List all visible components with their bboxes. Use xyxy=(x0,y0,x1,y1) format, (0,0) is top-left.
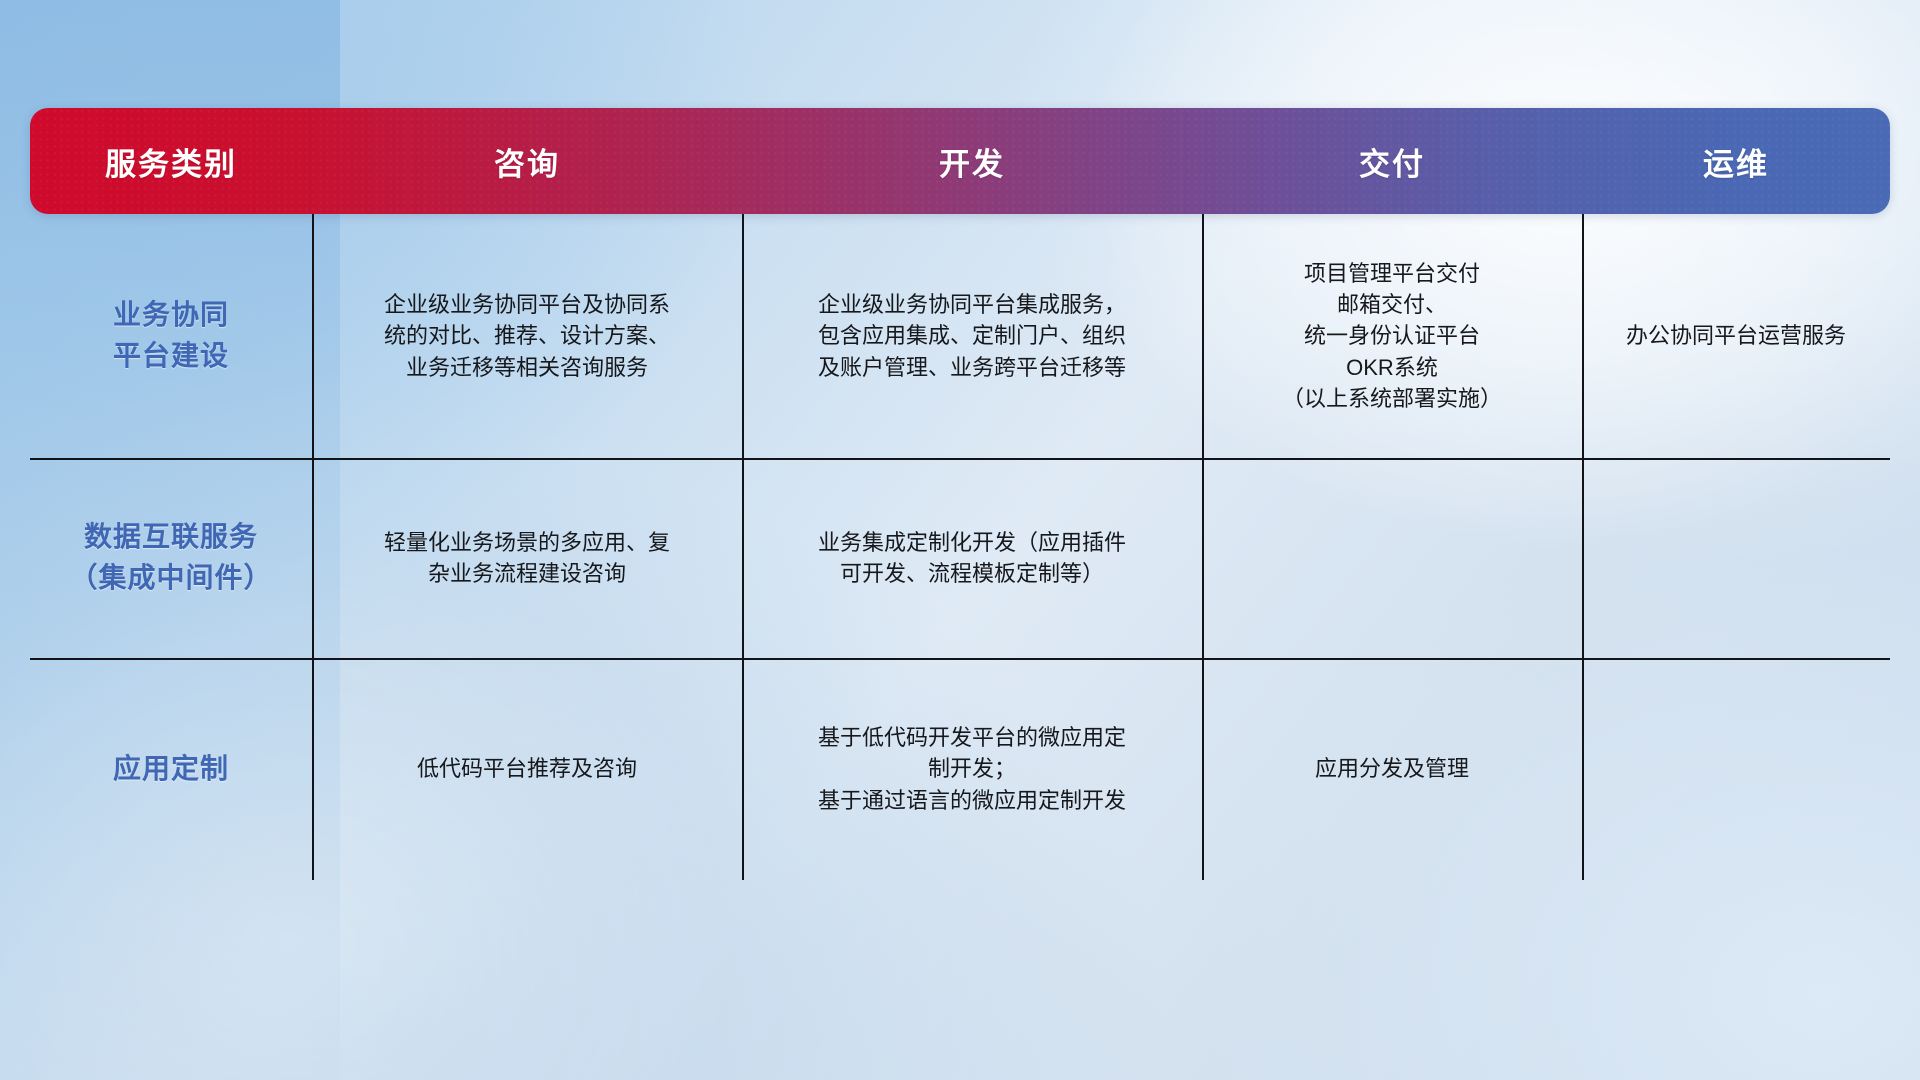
table-row: 数据互联服务 （集成中间件） 轻量化业务场景的多应用、复 杂业务流程建设咨询 业… xyxy=(30,458,1890,658)
cell-consulting: 轻量化业务场景的多应用、复 杂业务流程建设咨询 xyxy=(312,458,742,658)
cell-development: 企业级业务协同平台集成服务， 包含应用集成、定制门户、组织 及账户管理、业务跨平… xyxy=(742,214,1202,458)
cell-consulting: 企业级业务协同平台及协同系 统的对比、推荐、设计方案、 业务迁移等相关咨询服务 xyxy=(312,214,742,458)
header-label-operations: 运维 xyxy=(1703,139,1769,184)
table-body: 业务协同 平台建设 企业级业务协同平台及协同系 统的对比、推荐、设计方案、 业务… xyxy=(30,214,1890,880)
cell-operations: 办公协同平台运营服务 xyxy=(1582,214,1890,458)
category-label: 数据互联服务 （集成中间件） xyxy=(69,517,272,598)
header-cell-operations: 运维 xyxy=(1582,108,1890,214)
header-label-development: 开发 xyxy=(939,139,1005,184)
header-cell-development: 开发 xyxy=(742,108,1202,214)
cell-consulting: 低代码平台推荐及咨询 xyxy=(312,658,742,880)
cell-delivery xyxy=(1202,458,1582,658)
table-row: 应用定制 低代码平台推荐及咨询 基于低代码开发平台的微应用定 制开发； 基于通过… xyxy=(30,658,1890,880)
category-label: 业务协同 平台建设 xyxy=(113,295,229,376)
category-label: 应用定制 xyxy=(113,749,229,790)
cell-category: 数据互联服务 （集成中间件） xyxy=(30,458,312,658)
cell-delivery: 项目管理平台交付 邮箱交付、 统一身份认证平台 OKR系统 （以上系统部署实施） xyxy=(1202,214,1582,458)
cell-category: 应用定制 xyxy=(30,658,312,880)
cell-development: 业务集成定制化开发（应用插件 可开发、流程模板定制等） xyxy=(742,458,1202,658)
cell-category: 业务协同 平台建设 xyxy=(30,214,312,458)
header-label-delivery: 交付 xyxy=(1359,139,1425,184)
cell-delivery: 应用分发及管理 xyxy=(1202,658,1582,880)
header-label-consulting: 咨询 xyxy=(494,139,560,184)
header-label-service-category: 服务类别 xyxy=(105,139,237,184)
header-cell-consulting: 咨询 xyxy=(312,108,742,214)
cell-development: 基于低代码开发平台的微应用定 制开发； 基于通过语言的微应用定制开发 xyxy=(742,658,1202,880)
cell-operations xyxy=(1582,658,1890,880)
header-cell-delivery: 交付 xyxy=(1202,108,1582,214)
service-matrix-table: 服务类别 咨询 开发 交付 运维 业务协同 平台建设 企业级业务协同平台及协同系… xyxy=(30,108,1890,774)
table-header-row: 服务类别 咨询 开发 交付 运维 xyxy=(30,108,1890,214)
header-cell-service-category: 服务类别 xyxy=(30,108,312,214)
table-row: 业务协同 平台建设 企业级业务协同平台及协同系 统的对比、推荐、设计方案、 业务… xyxy=(30,214,1890,458)
cell-operations xyxy=(1582,458,1890,658)
